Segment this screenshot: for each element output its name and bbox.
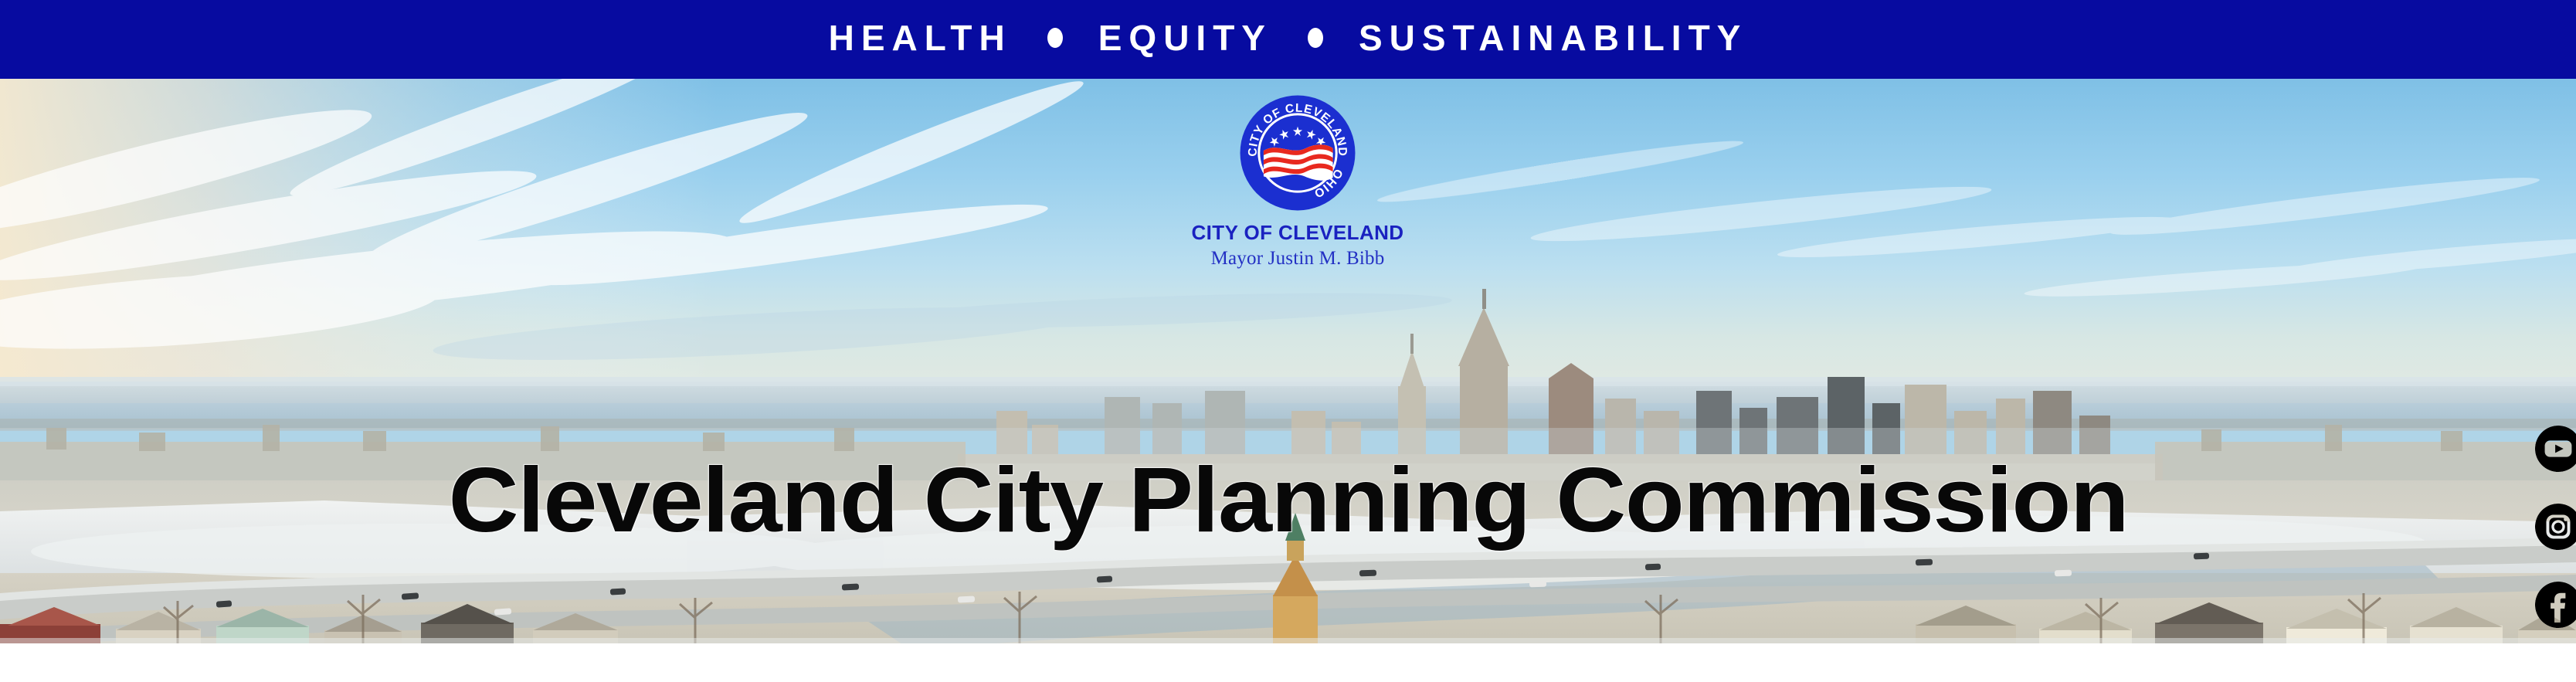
city-branding-block: CITY OF CLEVELAND OHIO CITY OF CLEVELAND… <box>1143 94 1452 326</box>
youtube-icon[interactable] <box>2534 425 2576 473</box>
tagline-banner: HEALTH EQUITY SUSTAINABILITY <box>0 0 2576 79</box>
facebook-icon[interactable] <box>2534 581 2576 629</box>
page-root: HEALTH EQUITY SUSTAINABILITY <box>0 0 2576 682</box>
tagline-word-health: HEALTH <box>829 20 1012 56</box>
social-links <box>2534 425 2576 629</box>
city-name-label: CITY OF CLEVELAND <box>1191 222 1403 243</box>
bullet-dot-icon <box>1047 28 1063 48</box>
mayor-name-label: Mayor Justin M. Bibb <box>1211 249 1385 269</box>
city-of-cleveland-seal-icon: CITY OF CLEVELAND OHIO <box>1239 94 1356 212</box>
tagline-word-sustainability: SUSTAINABILITY <box>1359 20 1747 56</box>
social-link-youtube[interactable] <box>2534 425 2576 473</box>
social-link-facebook[interactable] <box>2534 581 2576 629</box>
tagline-banner-inner: HEALTH EQUITY SUSTAINABILITY <box>829 20 1748 56</box>
social-link-instagram[interactable] <box>2534 503 2576 551</box>
instagram-icon[interactable] <box>2534 503 2576 551</box>
bullet-dot-icon <box>1308 28 1323 48</box>
tagline-word-equity: EQUITY <box>1098 20 1272 56</box>
